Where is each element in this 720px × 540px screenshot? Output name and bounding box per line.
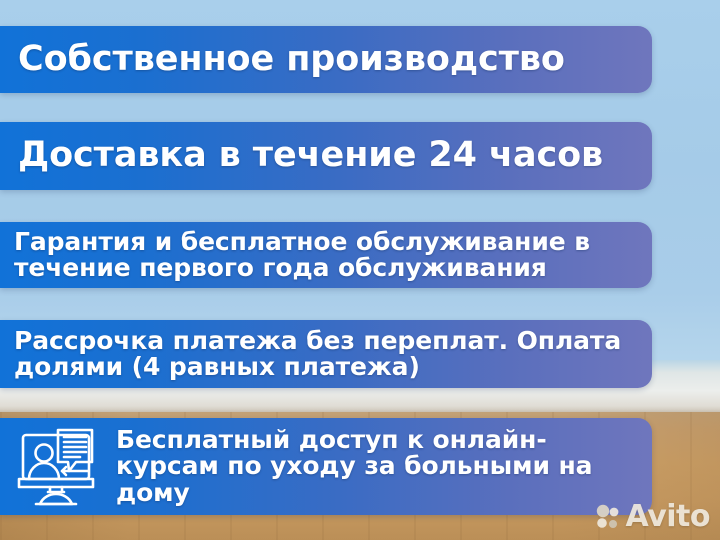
avito-wordmark: Avito <box>626 502 710 532</box>
banner-own-production-text: Собственное производство <box>18 41 565 78</box>
banner-installments-text: Рассрочка платежа без переплат. Оплата д… <box>14 328 621 381</box>
promo-image: Собственное производство Доставка в тече… <box>0 0 720 540</box>
banner-delivery: Доставка в течение 24 часов <box>0 122 652 190</box>
banner-online-courses-text: Бесплатный доступ к онлайн- курсам по ух… <box>116 427 592 507</box>
banner-online-courses: Бесплатный доступ к онлайн- курсам по ух… <box>0 418 652 515</box>
banner-own-production: Собственное производство <box>0 26 652 93</box>
banner-delivery-text: Доставка в течение 24 часов <box>18 137 603 174</box>
monitor-person-document-icon <box>14 424 110 510</box>
banner-warranty-text: Гарантия и бесплатное обслуживание в теч… <box>14 229 590 282</box>
avito-dots-icon <box>595 504 621 530</box>
banner-installments: Рассрочка платежа без переплат. Оплата д… <box>0 320 652 388</box>
banner-warranty: Гарантия и бесплатное обслуживание в теч… <box>0 222 652 288</box>
avito-watermark: Avito <box>595 502 710 532</box>
